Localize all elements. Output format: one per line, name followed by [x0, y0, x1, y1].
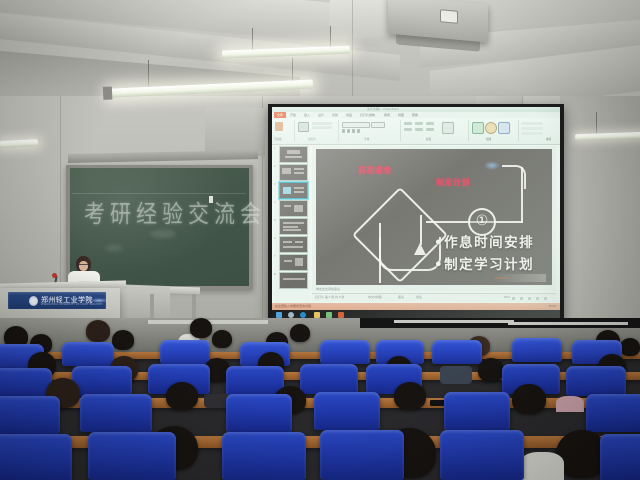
arrange-icon[interactable]	[485, 122, 497, 134]
ribbon-group-label: 字体	[364, 137, 369, 141]
tab-design[interactable]: 设计	[318, 113, 324, 117]
lecture-hall-photo: 考研经验交流会 演示文稿1 - PowerPoint 文件 开始 插入 设计 切…	[0, 0, 640, 480]
bold-icon[interactable]	[342, 129, 345, 133]
tab-view[interactable]: 视图	[398, 113, 404, 117]
seat[interactable]	[320, 430, 404, 480]
seat[interactable]	[432, 340, 482, 364]
current-slide[interactable]: ① 前期准备 制定计划 •作息时间安排 •制定学习计划	[316, 149, 552, 285]
thumb-number: 7	[274, 255, 275, 258]
wall-rail	[508, 322, 628, 325]
backpack	[440, 366, 472, 384]
ribbon-group-label: 段落	[426, 137, 431, 141]
slide-thumbnail-6[interactable]	[279, 236, 308, 253]
paste-icon[interactable]	[275, 122, 283, 131]
zoom-slider[interactable]	[512, 296, 552, 300]
underline-icon[interactable]	[352, 129, 355, 133]
sparkle-decoration	[484, 161, 500, 170]
tab-slideshow[interactable]: 幻灯片放映	[360, 113, 375, 117]
seat[interactable]	[512, 338, 562, 362]
wall-ledge	[205, 108, 265, 156]
tab-home[interactable]: 开始	[290, 113, 296, 117]
quick-styles-icon[interactable]	[498, 122, 510, 134]
light-wire	[148, 60, 149, 86]
audience-head	[620, 338, 640, 356]
comments-toggle[interactable]: 批注	[416, 295, 422, 299]
blackboard-chalk-line	[72, 193, 246, 194]
graduation-cap-tassel	[420, 215, 422, 245]
audience-head	[166, 382, 198, 410]
seat[interactable]	[586, 394, 640, 432]
university-seal-icon	[29, 296, 38, 306]
layout-icon[interactable]	[312, 122, 332, 125]
seat[interactable]	[62, 342, 114, 366]
wall-seam	[60, 96, 61, 296]
audience-head	[394, 382, 426, 410]
slide-editing-area[interactable]: ① 前期准备 制定计划 •作息时间安排 •制定学习计划	[312, 146, 556, 291]
light-wire	[596, 112, 597, 134]
slide-thumbnail-pane[interactable]: 1 2 3 4	[274, 145, 310, 303]
audience-shoulder	[520, 452, 564, 480]
seat[interactable]	[566, 366, 626, 396]
ppt-status-bar[interactable]: 幻灯片 第 3 张,共 8 张 中文(中国) 备注 批注 66%	[312, 293, 556, 302]
seat[interactable]	[226, 394, 292, 432]
seat[interactable]	[80, 394, 152, 432]
font-name-box[interactable]	[342, 122, 370, 128]
shapes-icon[interactable]	[472, 122, 484, 134]
thumb-number: 1	[274, 147, 275, 150]
slide-thumbnail-2[interactable]	[279, 164, 308, 181]
slide-label-right: 制定计划	[436, 177, 470, 188]
language-indicator[interactable]: 中文(中国)	[368, 295, 382, 299]
convert-smartart-icon[interactable]	[442, 122, 454, 134]
ribbon-group-editing[interactable]: 编辑	[518, 120, 560, 141]
audience-head	[512, 384, 546, 414]
thumb-number: 4	[274, 201, 275, 204]
chalk-smudge	[150, 230, 176, 238]
microphone-head	[52, 273, 57, 278]
light-wire	[252, 28, 253, 50]
seat[interactable]	[444, 392, 510, 430]
tab-transition[interactable]: 切换	[332, 113, 338, 117]
thumb-number: 5	[274, 219, 275, 222]
sign-highlight	[90, 298, 108, 303]
ribbon-group-drawing[interactable]: 绘图	[468, 120, 519, 141]
seat[interactable]	[0, 368, 52, 398]
windows-taskbar[interactable]: 在这里输入你要搜索的内容 15:42	[272, 303, 560, 318]
ribbon-group-label: 幻灯片	[308, 137, 316, 141]
replace-icon[interactable]	[521, 127, 543, 130]
audience-head	[212, 330, 232, 348]
audience-head	[112, 330, 134, 350]
podium-sign-english: ZHENGZHOU UNIVERSITY OF LIGHT INDUSTRY	[41, 303, 103, 306]
seat[interactable]	[440, 430, 524, 480]
slide-bullet-1: •作息时间安排	[434, 231, 534, 251]
seat[interactable]	[160, 340, 210, 364]
path-vertical	[521, 167, 523, 223]
seat[interactable]	[314, 392, 380, 430]
audience-head	[478, 358, 504, 382]
ribbon-group-slides[interactable]: 幻灯片	[294, 120, 339, 141]
tab-review[interactable]: 审阅	[384, 113, 390, 117]
audience-head	[190, 318, 212, 338]
graduation-cap-tassel-end	[414, 243, 426, 255]
seat[interactable]	[0, 396, 60, 434]
seat[interactable]	[0, 434, 72, 480]
font-size-box[interactable]	[371, 122, 385, 128]
tab-insert[interactable]: 插入	[304, 113, 310, 117]
store-icon[interactable]	[326, 312, 332, 318]
new-slide-icon[interactable]	[298, 122, 309, 132]
speaker-glasses	[79, 264, 89, 268]
file-explorer-icon[interactable]	[314, 312, 320, 318]
audience-head	[290, 324, 310, 342]
seat[interactable]	[226, 366, 284, 396]
slide-thumbnail-7[interactable]	[279, 254, 308, 271]
strikethrough-icon[interactable]	[357, 129, 360, 133]
ribbon-group-label: 绘图	[486, 137, 491, 141]
find-icon[interactable]	[521, 122, 543, 125]
seat[interactable]	[600, 434, 640, 480]
audience-shoulder	[556, 396, 584, 412]
graduation-cap-band	[379, 237, 441, 271]
thumb-number: 2	[274, 165, 275, 168]
seat[interactable]	[88, 432, 176, 480]
slide-label-left: 前期准备	[358, 165, 392, 176]
tab-animation[interactable]: 动画	[346, 113, 352, 117]
indent-icon[interactable]	[426, 122, 434, 125]
chalk-smudge	[105, 245, 123, 251]
align-left-icon[interactable]	[404, 128, 412, 131]
align-right-icon[interactable]	[426, 128, 434, 131]
ribbon-group-label: 剪贴板	[274, 137, 282, 141]
windows-start-icon[interactable]	[276, 312, 282, 318]
numbering-icon[interactable]	[415, 122, 423, 125]
ribbon-group-paragraph[interactable]: 段落	[400, 120, 469, 141]
slide-thumbnail-4[interactable]	[279, 200, 308, 217]
ppt-title-text: 演示文稿1 - PowerPoint	[367, 107, 399, 111]
reset-icon[interactable]	[312, 126, 332, 129]
select-icon[interactable]	[521, 132, 543, 135]
projector-lens-icon	[440, 9, 458, 24]
slide-thumbnail-5[interactable]	[279, 218, 308, 235]
tab-help[interactable]: 帮助	[412, 113, 418, 117]
slide-bullet-2: •制定学习计划	[434, 253, 534, 273]
cortana-circle-icon[interactable]	[288, 312, 294, 318]
podium-sign: 郑州轻工业学院 ZHENGZHOU UNIVERSITY OF LIGHT IN…	[8, 292, 106, 309]
blackboard-handwriting: 考研经验交流会	[84, 196, 234, 231]
taskbar-clock[interactable]: 15:42	[548, 304, 556, 308]
ribbon-group-font[interactable]: 字体	[338, 120, 401, 141]
bullets-icon[interactable]	[404, 122, 412, 125]
align-center-icon[interactable]	[415, 128, 423, 131]
seat[interactable]	[320, 340, 370, 364]
slide-footer-logo	[494, 274, 546, 282]
slide-indicator: 幻灯片 第 3 张,共 8 张	[315, 295, 344, 299]
ppt-ribbon[interactable]: 剪贴板 幻灯片 字体	[272, 118, 560, 145]
projection-screen: 演示文稿1 - PowerPoint 文件 开始 插入 设计 切换 动画 幻灯片…	[272, 107, 560, 318]
taskbar-search-input[interactable]: 在这里输入你要搜索的内容	[275, 304, 311, 308]
notes-toggle[interactable]: 备注	[398, 295, 404, 299]
seat[interactable]	[222, 432, 306, 480]
slide-thumbnail-1[interactable]	[279, 146, 308, 163]
thumb-number: 6	[274, 237, 275, 240]
powerpoint-icon[interactable]	[338, 312, 344, 318]
thumb-number: 8	[274, 273, 275, 276]
italic-icon[interactable]	[347, 129, 350, 133]
wall-rail	[394, 320, 514, 323]
thumb-number: 3	[274, 183, 275, 186]
seat[interactable]	[72, 366, 132, 396]
zoom-level[interactable]: 66%	[504, 295, 510, 299]
audience-head	[86, 320, 110, 342]
ribbon-group-clipboard[interactable]: 剪贴板	[272, 120, 295, 141]
graduation-cap-stem	[379, 223, 381, 283]
ribbon-group-label: 编辑	[546, 137, 551, 141]
seat[interactable]	[300, 364, 358, 394]
edge-browser-icon[interactable]	[300, 312, 306, 318]
slide-thumbnail-8[interactable]	[279, 272, 308, 289]
slide-thumbnail-3[interactable]	[279, 182, 308, 199]
powerpoint-window: 演示文稿1 - PowerPoint 文件 开始 插入 设计 切换 动画 幻灯片…	[272, 107, 560, 318]
